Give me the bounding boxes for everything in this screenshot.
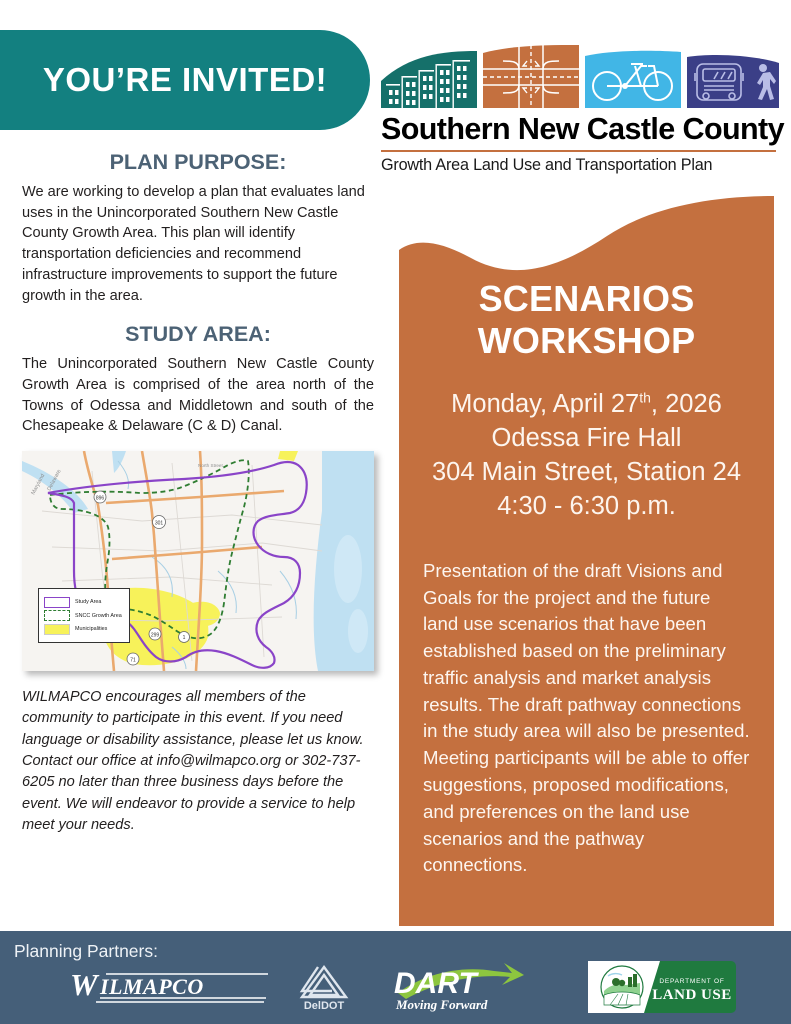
- study-area-map[interactable]: 896 301 299 1 71 Maryland Delaware North…: [22, 451, 374, 671]
- legend-row-municipalities: Municipalities: [44, 624, 122, 635]
- dart-logo[interactable]: DART Moving Forward: [392, 959, 528, 1015]
- legend-swatch-municipalities: [44, 624, 70, 635]
- event-date-year: , 2026: [651, 390, 722, 418]
- logo-icon-strip: [381, 45, 781, 108]
- invited-banner: YOU’RE INVITED!: [0, 30, 370, 130]
- svg-text:DEPARTMENT OF: DEPARTMENT OF: [659, 978, 724, 985]
- svg-text:North Street: North Street: [198, 463, 223, 468]
- event-address: 304 Main Street, Station 24: [419, 456, 754, 490]
- svg-text:W: W: [70, 969, 100, 1002]
- legend-row-growth-area: SNCC Growth Area: [44, 610, 122, 621]
- plan-purpose-text: We are working to develop a plan that ev…: [22, 182, 374, 306]
- event-date-text: Monday, April 27: [451, 390, 639, 418]
- logo-subtitle: Growth Area Land Use and Transportation …: [381, 156, 781, 175]
- svg-text:1: 1: [183, 635, 186, 641]
- bicycle-icon: [585, 50, 681, 108]
- svg-text:DART: DART: [394, 967, 479, 1000]
- plan-purpose-heading: PLAN PURPOSE:: [22, 150, 374, 175]
- event-panel: SCENARIOS WORKSHOP Monday, April 27th, 2…: [399, 196, 774, 926]
- deldot-logo[interactable]: DelDOT: [288, 961, 360, 1013]
- partner-logos: W ILMAPCO De: [0, 953, 791, 1019]
- workshop-title-line1: SCENARIOS: [419, 278, 754, 320]
- workshop-title-line2: WORKSHOP: [419, 320, 754, 362]
- legend-label-municipalities: Municipalities: [75, 626, 107, 632]
- svg-text:Moving Forward: Moving Forward: [395, 997, 488, 1012]
- svg-text:LAND USE: LAND USE: [652, 987, 731, 1003]
- svg-text:DelDOT: DelDOT: [304, 1000, 345, 1012]
- event-date: Monday, April 27th, 2026: [419, 388, 754, 422]
- project-logo: Southern New Castle County Growth Area L…: [381, 45, 781, 175]
- svg-text:ILMAPCO: ILMAPCO: [99, 974, 204, 999]
- svg-text:301: 301: [155, 521, 164, 527]
- footer: Planning Partners: W ILMAPCO: [0, 931, 791, 1024]
- left-column: PLAN PURPOSE: We are working to develop …: [22, 150, 374, 836]
- road-intersection-icon: [483, 45, 579, 108]
- map-legend: Study Area SNCC Growth Area Municipaliti…: [38, 588, 130, 643]
- logo-title: Southern New Castle County: [381, 112, 781, 147]
- wilmapco-logo[interactable]: W ILMAPCO: [70, 969, 270, 1005]
- invited-banner-text: YOU’RE INVITED!: [43, 61, 327, 99]
- event-description: Presentation of the draft Visions and Go…: [419, 558, 754, 879]
- legend-label-growth-area: SNCC Growth Area: [75, 613, 122, 619]
- accessibility-notice: WILMAPCO encourages all members of the c…: [22, 687, 374, 836]
- legend-swatch-study-area: [44, 597, 70, 608]
- land-use-logo[interactable]: DEPARTMENT OF LAND USE: [588, 961, 736, 1013]
- svg-text:896: 896: [96, 496, 105, 502]
- legend-swatch-growth-area: [44, 610, 70, 621]
- svg-text:299: 299: [151, 633, 160, 639]
- study-area-text: The Unincorporated Southern New Castle C…: [22, 354, 374, 437]
- event-details: Monday, April 27th, 2026 Odessa Fire Hal…: [419, 388, 754, 524]
- legend-label-study-area: Study Area: [75, 599, 101, 605]
- event-date-ordinal: th: [639, 390, 651, 406]
- buildings-icon: [381, 51, 477, 108]
- poster-root: YOU’RE INVITED!: [0, 0, 791, 1024]
- event-venue: Odessa Fire Hall: [419, 422, 754, 456]
- svg-text:71: 71: [130, 658, 136, 664]
- legend-row-study-area: Study Area: [44, 597, 122, 608]
- study-area-heading: STUDY AREA:: [22, 322, 374, 347]
- bus-pedestrian-icon: [687, 55, 779, 108]
- event-time: 4:30 - 6:30 p.m.: [419, 490, 754, 524]
- logo-divider: [381, 150, 776, 152]
- workshop-title: SCENARIOS WORKSHOP: [419, 278, 754, 362]
